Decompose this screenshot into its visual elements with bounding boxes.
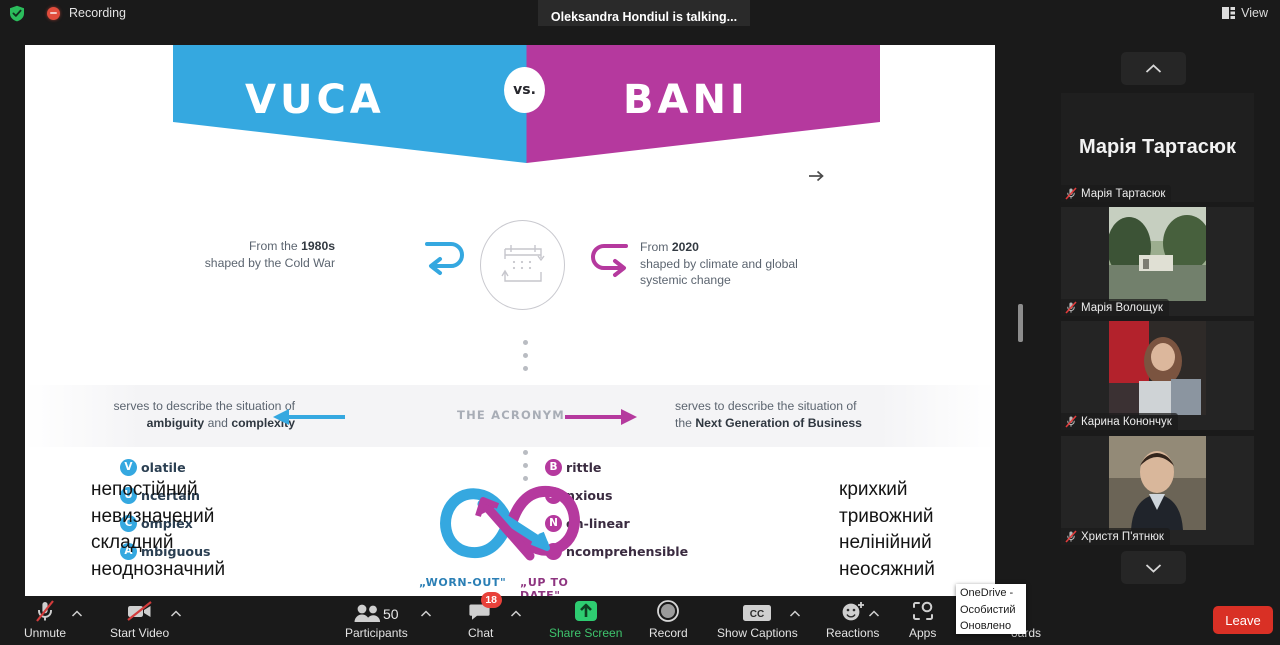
calendar-cycle-icon — [480, 220, 565, 310]
curved-arrow-right-icon — [590, 242, 630, 282]
reactions-label: Reactions — [826, 626, 879, 640]
onedrive-tooltip-line1: OneDrive - — [960, 585, 1022, 602]
leave-button[interactable]: Leave — [1213, 606, 1273, 634]
mic-muted-icon — [1065, 301, 1077, 314]
mic-muted-icon — [1065, 187, 1077, 200]
recording-dot-icon — [47, 7, 60, 20]
participant-nametag: Карина Конончук — [1061, 413, 1178, 430]
mic-muted-icon — [1065, 415, 1077, 428]
svg-text:50: 50 — [383, 606, 399, 622]
chevron-up-icon — [1145, 64, 1162, 74]
apps-button[interactable]: Apps — [905, 599, 940, 643]
participant-avatar — [1109, 207, 1206, 301]
participant-strip: Марія Тартасюк Марія Тартасюк — [1026, 26, 1280, 596]
arrow-right-icon — [805, 165, 827, 187]
start-video-button[interactable]: Start Video — [106, 599, 173, 643]
infinity-caption-right: „UP TO DATE" — [520, 576, 600, 596]
ua-word: нелінійний — [839, 530, 935, 557]
reactions-options-caret[interactable] — [868, 608, 880, 620]
shared-screen-area[interactable]: VUCA BANI vs. From the 1980s shaped by t… — [0, 26, 1021, 596]
show-captions-label: Show Captions — [717, 626, 798, 640]
svg-text:CC: CC — [750, 609, 764, 620]
onedrive-tooltip-line2: Особистий — [960, 602, 1022, 619]
onedrive-tooltip: OneDrive - Особистий Оновлено — [956, 584, 1026, 634]
dots-divider-top — [523, 340, 528, 371]
participant-nametag: Христя П'ятнюк — [1061, 528, 1170, 545]
participant-tile[interactable]: Карина Конончук — [1061, 321, 1254, 430]
video-options-caret[interactable] — [170, 608, 182, 620]
acronym-band: serves to describe the situation of ambi… — [25, 385, 995, 447]
vuca-desc-mid: and — [204, 416, 231, 430]
scroll-up-button[interactable] — [1121, 52, 1186, 85]
reactions-button[interactable]: Reactions — [822, 599, 883, 643]
dot — [523, 353, 528, 358]
ua-word: крихкий — [839, 477, 935, 504]
ua-translations-left: непостійний невизначений складний неодно… — [91, 477, 225, 583]
participants-icon: 50 — [353, 599, 399, 623]
participants-label: Participants — [345, 626, 408, 640]
chat-bubble-icon: 18 — [469, 599, 493, 623]
infinity-loop-graphic: „WORN-OUT" „UP TO DATE" — [420, 470, 600, 596]
smiley-plus-icon — [840, 599, 866, 623]
vuca-desc-bold1: ambiguity — [147, 416, 205, 430]
scroll-down-button[interactable] — [1121, 551, 1186, 584]
ua-word: неосяжний — [839, 557, 935, 584]
vuca-origin-prefix: From the — [249, 239, 301, 253]
infinity-loop-icon — [420, 470, 600, 575]
dot — [523, 463, 528, 468]
chat-label: Chat — [468, 626, 493, 640]
chevron-down-icon — [1145, 563, 1162, 573]
participant-nametag: Марія Тартасюк — [1061, 185, 1171, 202]
participant-name-label: Марія Волощук — [1081, 302, 1163, 314]
participants-button[interactable]: 50 Participants — [341, 599, 412, 643]
vuca-origin-year: 1980s — [301, 239, 335, 253]
security-shield-icon[interactable] — [9, 5, 25, 22]
participant-tile[interactable]: Христя П'ятнюк — [1061, 436, 1254, 545]
recording-indicator[interactable]: Recording — [47, 6, 126, 20]
record-label: Record — [649, 626, 688, 640]
captions-options-caret[interactable] — [789, 608, 801, 620]
dot — [523, 340, 528, 345]
chat-unread-badge: 18 — [481, 592, 502, 608]
ua-translations-right: крихкий тривожний нелінійний неосяжний — [839, 477, 935, 583]
show-captions-button[interactable]: CC Show Captions — [713, 599, 802, 643]
unmute-label: Unmute — [24, 626, 66, 640]
leave-label: Leave — [1225, 613, 1260, 628]
view-layout-icon — [1222, 7, 1235, 19]
participants-options-caret[interactable] — [420, 608, 432, 620]
bani-origin-year: 2020 — [672, 240, 699, 254]
chat-button[interactable]: 18 Chat — [464, 599, 497, 643]
ua-word: невизначений — [91, 504, 225, 531]
unmute-options-caret[interactable] — [71, 608, 83, 620]
participant-avatar — [1109, 436, 1206, 530]
bani-description: serves to describe the situation of the … — [675, 398, 945, 432]
vs-badge: vs. — [504, 67, 545, 113]
chat-options-caret[interactable] — [510, 608, 522, 620]
bani-desc-bold: Next Generation of Business — [695, 416, 862, 430]
ua-word: складний — [91, 530, 225, 557]
bani-desc-prefix: the — [675, 416, 695, 430]
vuca-description: serves to describe the situation of ambi… — [45, 398, 295, 432]
participant-name-label: Карина Конончук — [1081, 416, 1172, 428]
participant-tile[interactable]: Марія Тартасюк Марія Тартасюк — [1061, 93, 1254, 202]
vs-label: vs. — [513, 82, 536, 98]
recording-label: Recording — [69, 6, 126, 20]
bani-origin-desc1: shaped by climate and global — [640, 257, 798, 271]
meeting-toolbar: Unmute Start Video 50 Participants — [0, 596, 1280, 645]
ua-word: неоднозначний — [91, 557, 225, 584]
video-off-icon — [126, 599, 153, 623]
mic-muted-icon — [1065, 530, 1077, 543]
view-label: View — [1241, 6, 1268, 20]
vuca-title: VUCA — [245, 77, 385, 123]
apps-label: Apps — [909, 626, 936, 640]
vuca-desc-line1: serves to describe the situation of — [113, 399, 295, 413]
apps-icon — [910, 599, 936, 623]
dot — [523, 450, 528, 455]
share-screen-up-arrow-icon — [573, 599, 599, 623]
vuca-origin-text: From the 1980s shaped by the Cold War — [105, 238, 335, 271]
active-speaker-label: Oleksandra Hondiul is talking... — [551, 10, 737, 24]
letter-badge: V — [120, 459, 137, 476]
ua-word: непостійний — [91, 477, 225, 504]
cc-icon: CC — [742, 599, 772, 623]
bani-desc-line1: serves to describe the situation of — [675, 399, 857, 413]
participant-tile[interactable]: Марія Волощук — [1061, 207, 1254, 316]
record-circle-icon — [656, 599, 680, 623]
view-button[interactable]: View — [1218, 3, 1272, 23]
bani-title: BANI — [623, 77, 749, 123]
infinity-caption-left: „WORN-OUT" — [419, 576, 506, 589]
participant-avatar — [1109, 321, 1206, 415]
ua-word: тривожний — [839, 504, 935, 531]
dot — [523, 366, 528, 371]
participant-nametag: Марія Волощук — [1061, 299, 1169, 316]
arrow-left-icon — [273, 409, 345, 425]
slide-middle-section: From the 1980s shaped by the Cold War — [25, 220, 995, 330]
participant-name-label: Марія Тартасюк — [1081, 188, 1165, 200]
bani-origin-text: From 2020 shaped by climate and global s… — [640, 239, 900, 289]
panel-resize-handle[interactable] — [1018, 304, 1023, 342]
mic-muted-icon — [33, 599, 57, 623]
slide-banner: VUCA BANI vs. — [173, 45, 880, 180]
arrow-right-icon — [565, 409, 637, 425]
record-button[interactable]: Record — [645, 599, 692, 643]
letter-word: olatile — [141, 460, 186, 475]
participant-name-label: Христя П'ятнюк — [1081, 531, 1164, 543]
unmute-button[interactable]: Unmute — [20, 599, 70, 643]
curved-arrow-left-icon — [425, 240, 465, 280]
start-video-label: Start Video — [110, 626, 169, 640]
bani-origin-prefix: From — [640, 240, 672, 254]
onedrive-tooltip-line3: Оновлено — [960, 618, 1022, 635]
vuca-origin-desc: shaped by the Cold War — [205, 256, 335, 270]
share-screen-button[interactable]: Share Screen — [545, 599, 626, 643]
bani-origin-desc2: systemic change — [640, 273, 731, 287]
share-screen-label: Share Screen — [549, 626, 622, 640]
